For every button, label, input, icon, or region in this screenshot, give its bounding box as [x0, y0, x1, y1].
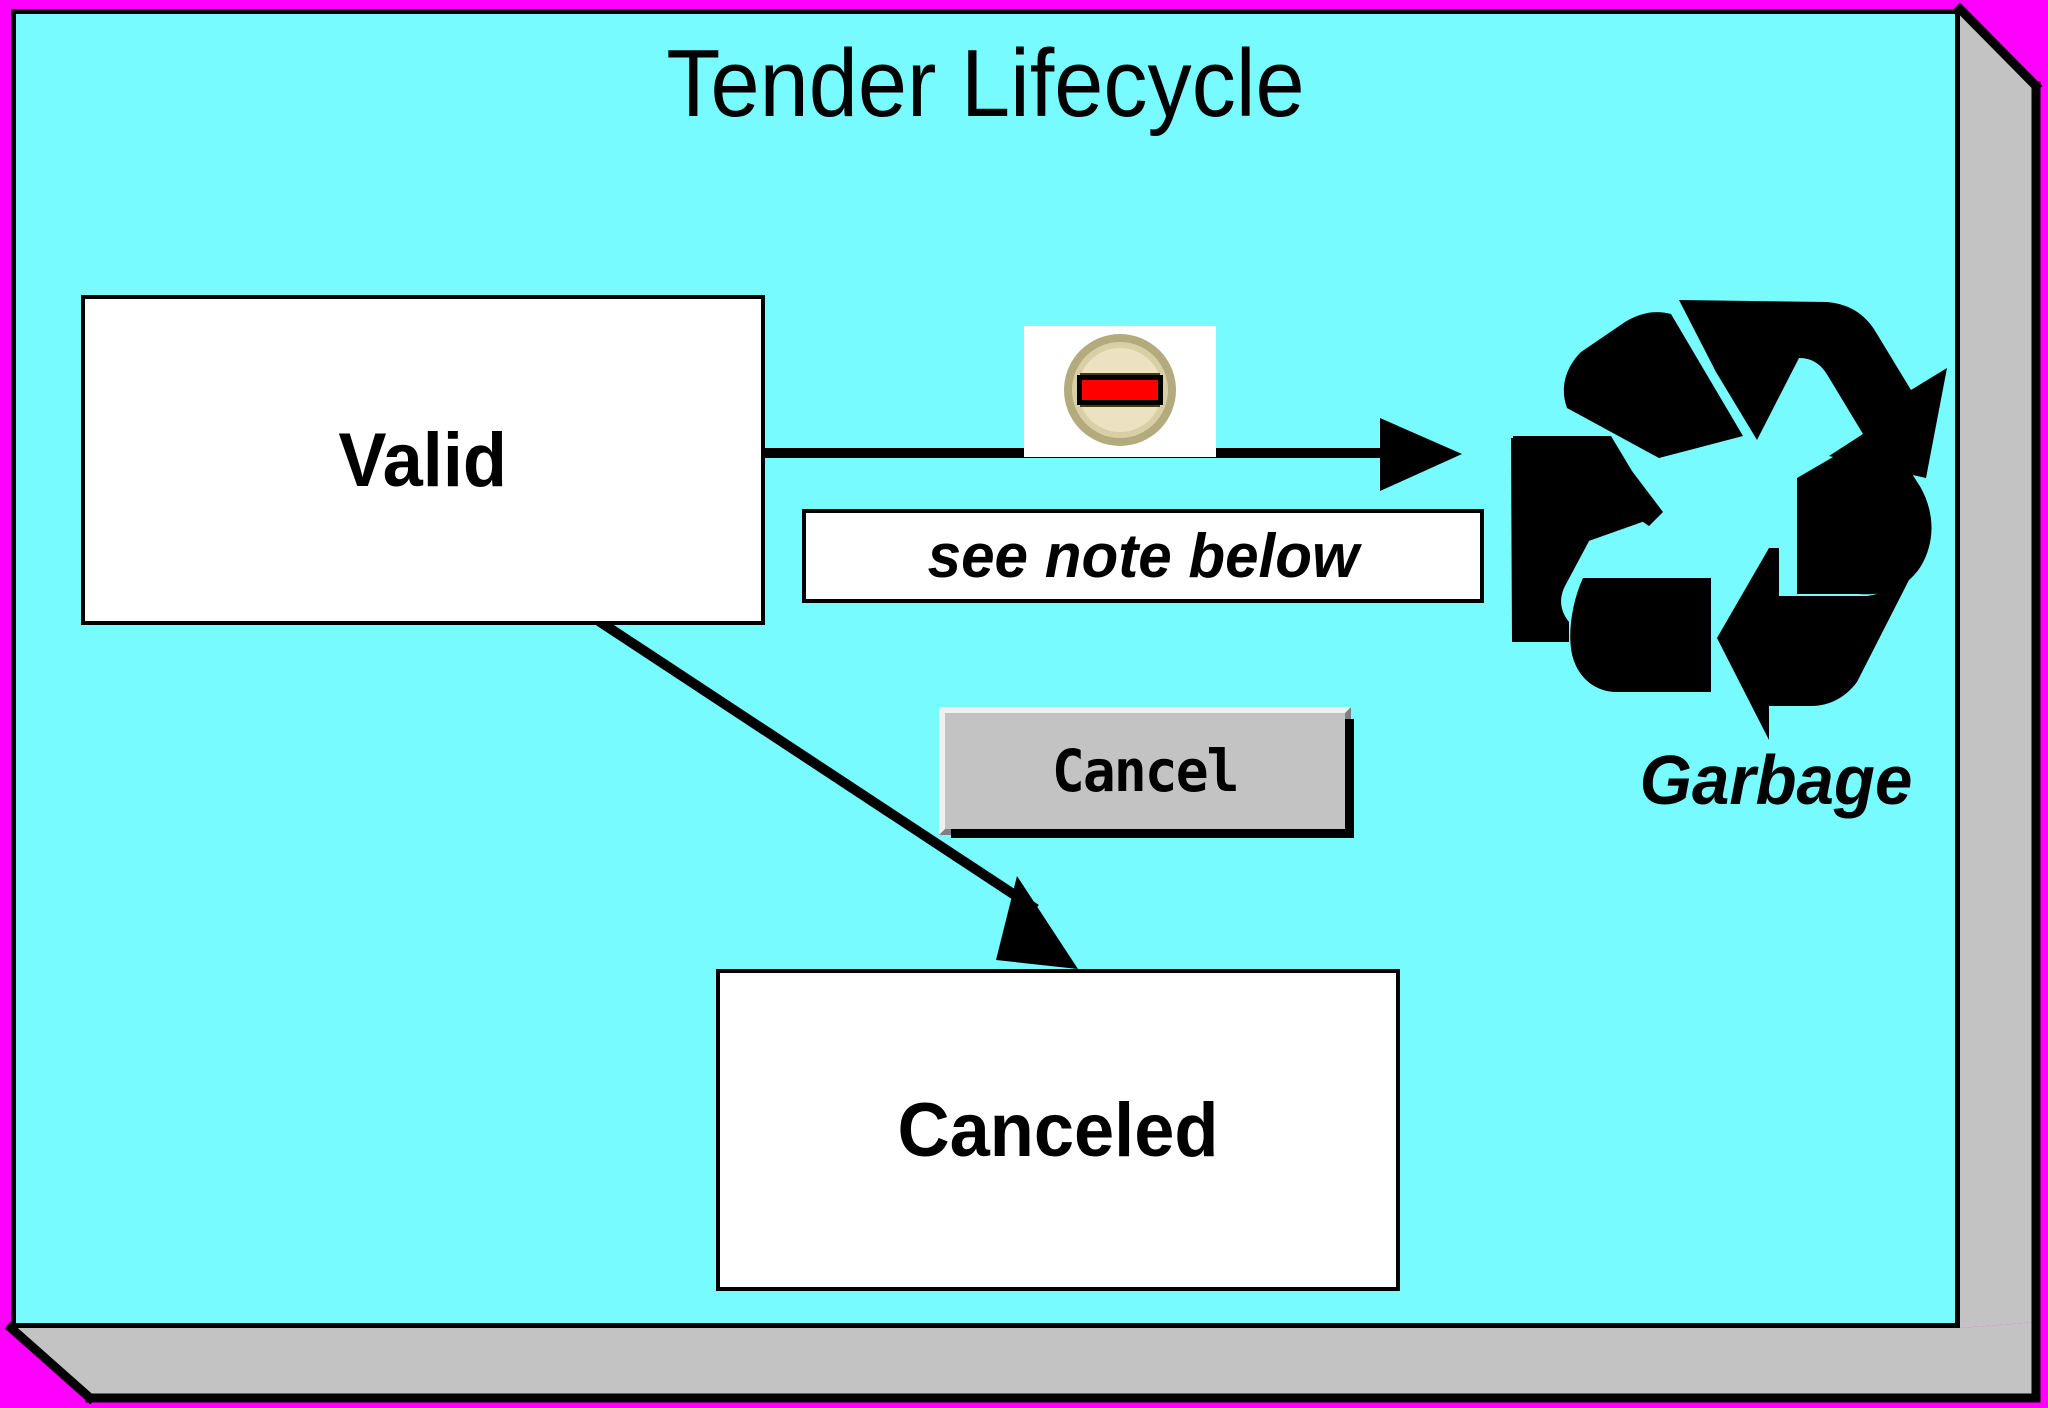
cancel-button-label: Cancel	[1052, 737, 1238, 805]
note-below-label: see note below	[802, 509, 1484, 603]
cancel-button[interactable]: Cancel	[939, 707, 1351, 835]
state-box-valid[interactable]: Valid	[81, 295, 765, 625]
garbage-label: Garbage	[1584, 740, 1960, 820]
state-box-canceled[interactable]: Canceled	[716, 969, 1400, 1291]
state-label-canceled: Canceled	[897, 1087, 1218, 1174]
forbidden-minus-icon	[1024, 326, 1216, 457]
note-below-text: see note below	[927, 521, 1358, 592]
recycle-icon	[1511, 290, 1960, 740]
state-label-valid: Valid	[339, 417, 508, 504]
slide-canvas: Tender Lifecycle Valid Canceled	[11, 9, 1960, 1328]
slide-stage: Tender Lifecycle Valid Canceled	[0, 0, 2048, 1408]
page-title: Tender Lifecycle	[94, 32, 1878, 136]
